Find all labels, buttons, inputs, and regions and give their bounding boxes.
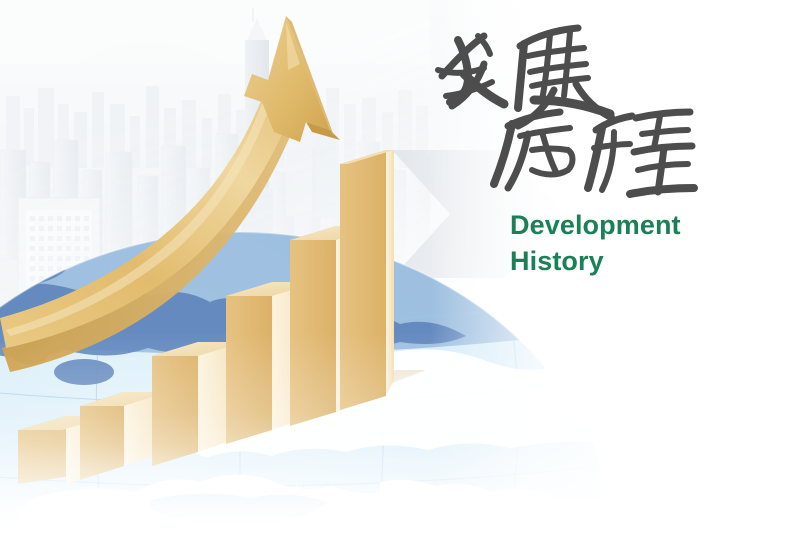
bar-6	[340, 150, 394, 410]
english-title: Development History	[510, 208, 770, 279]
bar-4	[226, 282, 318, 444]
bar-5	[290, 226, 382, 426]
bottom-white-fade	[0, 330, 800, 540]
bar-2	[80, 392, 168, 480]
bar-3	[152, 342, 244, 466]
development-history-banner: Development History	[0, 0, 800, 540]
title-block: Development History	[430, 24, 770, 279]
aerial-cityscape-image	[0, 0, 430, 330]
chinese-calligraphy-title	[430, 24, 700, 204]
bar-1	[4, 416, 110, 486]
